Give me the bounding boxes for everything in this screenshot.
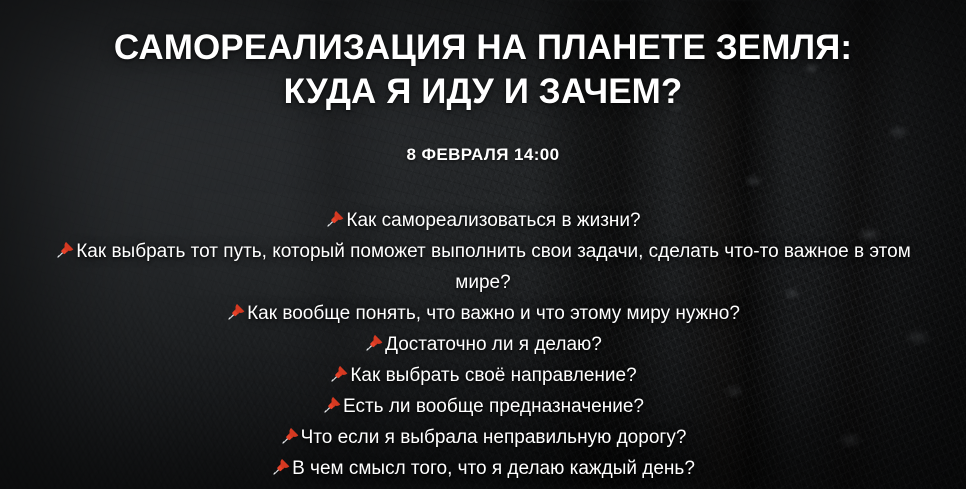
question-list: Как самореализоваться в жизни? Как выбра… <box>0 165 966 484</box>
list-item-label: Как самореализоваться в жизни? <box>346 210 640 231</box>
list-item: Есть ли вообще предназначение? <box>46 391 920 422</box>
event-date: 8 ФЕВРАЛЯ 14:00 <box>0 114 966 165</box>
poster-content: САМОРЕАЛИЗАЦИЯ НА ПЛАНЕТЕ ЗЕМЛЯ: КУДА Я … <box>0 0 966 489</box>
list-item: Как выбрать своё направление? <box>46 360 920 391</box>
pushpin-icon <box>226 302 245 321</box>
promo-poster: САМОРЕАЛИЗАЦИЯ НА ПЛАНЕТЕ ЗЕМЛЯ: КУДА Я … <box>0 0 966 489</box>
list-item-label: Как выбрать тот путь, который поможет вы… <box>76 241 911 293</box>
pushpin-icon <box>55 240 74 259</box>
page-title: САМОРЕАЛИЗАЦИЯ НА ПЛАНЕТЕ ЗЕМЛЯ: КУДА Я … <box>0 0 966 114</box>
pushpin-icon <box>325 209 344 228</box>
list-item-label: В чем смысл того, что я делаю каждый ден… <box>292 458 695 479</box>
list-item-label: Достаточно ли я делаю? <box>385 334 602 355</box>
list-item: Достаточно ли я делаю? <box>46 329 920 360</box>
pushpin-icon <box>280 426 299 445</box>
page-title-line-1: САМОРЕАЛИЗАЦИЯ НА ПЛАНЕТЕ ЗЕМЛЯ: <box>30 26 936 70</box>
pushpin-icon <box>364 333 383 352</box>
pushpin-icon <box>322 395 341 414</box>
list-item: Как вообще понять, что важно и что этому… <box>46 298 920 329</box>
list-item-label: Что если я выбрала неправильную дорогу? <box>301 427 687 448</box>
pushpin-icon <box>271 457 290 476</box>
page-title-line-2: КУДА Я ИДУ И ЗАЧЕМ? <box>30 70 936 114</box>
list-item: Как выбрать тот путь, который поможет вы… <box>46 236 920 298</box>
list-item: В чем смысл того, что я делаю каждый ден… <box>46 453 920 484</box>
list-item-label: Есть ли вообще предназначение? <box>343 396 644 417</box>
list-item: Что если я выбрала неправильную дорогу? <box>46 422 920 453</box>
list-item-label: Как выбрать своё направление? <box>350 365 636 386</box>
list-item-label: Как вообще понять, что важно и что этому… <box>247 303 740 324</box>
pushpin-icon <box>329 364 348 383</box>
list-item: Как самореализоваться в жизни? <box>46 205 920 236</box>
